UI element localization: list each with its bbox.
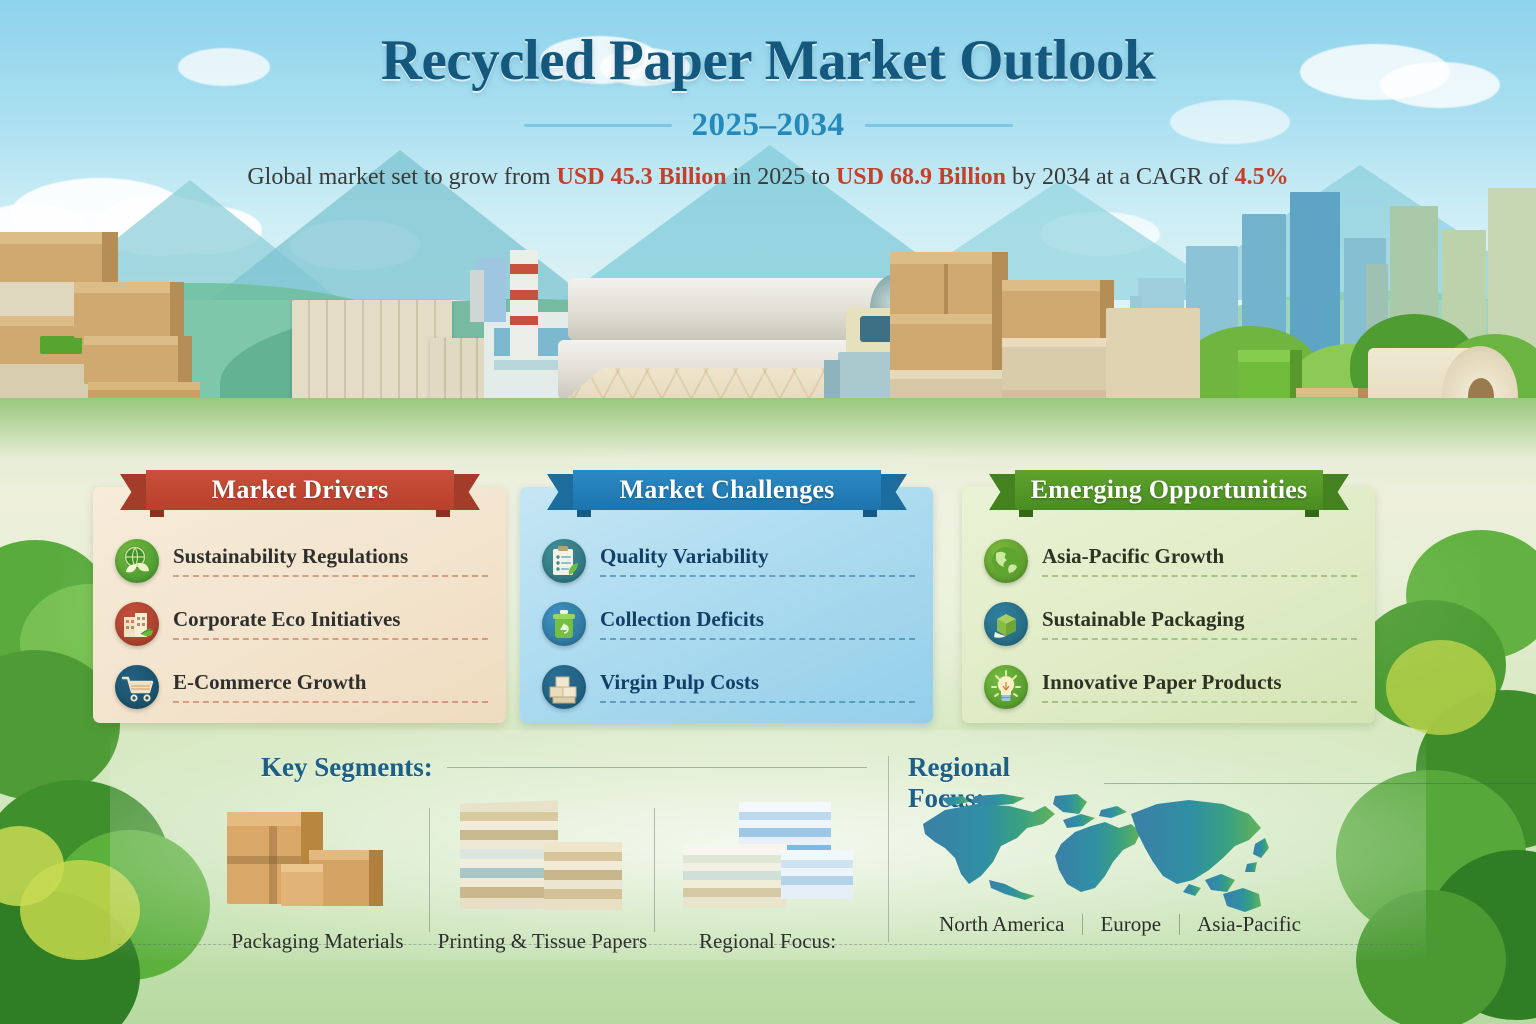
list-item-body: Innovative Paper Products [1042, 670, 1357, 703]
clipboard-leaf-icon [542, 539, 586, 583]
panel-emerging-opportunities: Asia-Pacific Growth Sustainable Packagin… [962, 487, 1375, 723]
key-segments-heading: Key Segments: [261, 752, 867, 783]
ribbon-foot-right [1305, 509, 1319, 517]
list-item-label: Virgin Pulp Costs [600, 670, 915, 701]
list-item[interactable]: Regional Focus: [655, 800, 880, 950]
list-item-rule [600, 638, 915, 640]
ribbon-emerging-opportunities: Emerging Opportunities [989, 470, 1349, 510]
drivers-list: Sustainability Regulations [115, 529, 488, 718]
paper-stacks-icon [452, 802, 642, 912]
list-item[interactable]: E-Commerce Growth [115, 655, 488, 718]
list-item-body: Collection Deficits [600, 607, 915, 640]
list-item-rule [1042, 575, 1357, 577]
subtitle-lead: Global market set to grow from [247, 164, 556, 190]
panel-market-challenges: Quality Variability Collection Deficits [520, 487, 933, 723]
list-item[interactable]: Quality Variability [542, 529, 915, 592]
list-item-body: Corporate Eco Initiatives [173, 607, 488, 640]
list-item-body: E-Commerce Growth [173, 670, 488, 703]
ribbon-tail-right [450, 474, 480, 510]
list-item-body: Quality Variability [600, 544, 915, 577]
list-item[interactable]: Collection Deficits [542, 592, 915, 655]
list-item-label: E-Commerce Growth [173, 670, 488, 701]
bottom-section-divider [888, 756, 889, 942]
ribbon-foot-left [1019, 509, 1033, 517]
list-item-label: Sustainability Regulations [173, 544, 488, 575]
subtitle: Global market set to grow from USD 45.3 … [0, 164, 1536, 191]
building-leaf-icon [115, 602, 159, 646]
subtitle-mid-2: by 2034 at a CAGR of [1006, 164, 1235, 190]
ribbon-title: Market Drivers [146, 470, 454, 510]
region-labels: North America Europe Asia-Pacific [905, 912, 1335, 937]
list-item-rule [600, 575, 915, 577]
panel-market-drivers: Sustainability Regulations [93, 487, 506, 723]
list-item[interactable]: Sustainability Regulations [115, 529, 488, 592]
list-item-rule [1042, 638, 1357, 640]
list-item-rule [173, 701, 488, 703]
infographic-canvas: Recycled Paper Market Outlook 2025–2034 … [0, 0, 1536, 1024]
page-title: Recycled Paper Market Outlook [0, 28, 1536, 93]
year-rule-right [865, 124, 1013, 127]
green-box-icon [984, 602, 1028, 646]
list-item-label: Regional Focus: [655, 929, 880, 954]
globe-americas-icon [984, 539, 1028, 583]
ribbon-title: Emerging Opportunities [1015, 470, 1323, 510]
list-item-label: Asia-Pacific Growth [1042, 544, 1357, 575]
key-segments-heading-rule [447, 767, 867, 768]
list-item[interactable]: Corporate Eco Initiatives [115, 592, 488, 655]
list-item-label: Collection Deficits [600, 607, 915, 638]
list-item[interactable]: Packaging Materials [205, 800, 430, 950]
ribbon-tail-right [1319, 474, 1349, 510]
list-item[interactable]: Printing & Tissue Papers [430, 800, 655, 950]
market-value-2025: USD 45.3 Billion [557, 164, 727, 190]
list-item-rule [173, 638, 488, 640]
regional-focus-heading-rule [1104, 783, 1536, 784]
ribbon-market-challenges: Market Challenges [547, 470, 907, 510]
shopping-cart-icon [115, 665, 159, 709]
region-label-europe[interactable]: Europe [1082, 912, 1179, 937]
ribbon-tail-right [877, 474, 907, 510]
list-item-label: Printing & Tissue Papers [430, 929, 655, 954]
year-rule-left [524, 124, 672, 127]
cardboard-boxes-icon [217, 806, 397, 910]
ribbon-market-drivers: Market Drivers [120, 470, 480, 510]
key-segments-heading-text: Key Segments: [261, 752, 433, 783]
ribbon-foot-right [863, 509, 877, 517]
recycle-bin-icon [542, 602, 586, 646]
lightbulb-icon [984, 665, 1028, 709]
list-item-label: Packaging Materials [205, 929, 430, 954]
list-item-label: Corporate Eco Initiatives [173, 607, 488, 638]
list-item[interactable]: Innovative Paper Products [984, 655, 1357, 718]
region-label-north-america[interactable]: North America [921, 912, 1082, 937]
world-map-icon [905, 788, 1335, 916]
list-item-body: Sustainability Regulations [173, 544, 488, 577]
list-item-label: Quality Variability [600, 544, 915, 575]
list-item-rule [173, 575, 488, 577]
paper-reams-icon [683, 802, 863, 912]
list-item-label: Innovative Paper Products [1042, 670, 1357, 701]
grass-band-upper [0, 398, 1536, 458]
ribbon-title: Market Challenges [573, 470, 881, 510]
list-item[interactable]: Sustainable Packaging [984, 592, 1357, 655]
list-item-rule [1042, 701, 1357, 703]
list-item-label: Sustainable Packaging [1042, 607, 1357, 638]
region-label-asia-pacific[interactable]: Asia-Pacific [1179, 912, 1319, 937]
market-value-2034: USD 68.9 Billion [836, 164, 1006, 190]
list-item-body: Sustainable Packaging [1042, 607, 1357, 640]
bottom-dashed-divider [118, 944, 1418, 945]
year-range: 2025–2034 [692, 107, 845, 144]
list-item[interactable]: Virgin Pulp Costs [542, 655, 915, 718]
list-item-body: Asia-Pacific Growth [1042, 544, 1357, 577]
globe-leaf-icon [115, 539, 159, 583]
opportunities-list: Asia-Pacific Growth Sustainable Packagin… [984, 529, 1357, 718]
ribbon-foot-right [436, 509, 450, 517]
paper-bales-icon [542, 665, 586, 709]
cagr-value: 4.5% [1235, 164, 1289, 190]
challenges-list: Quality Variability Collection Deficits [542, 529, 915, 718]
key-segments-list: Packaging Materials [205, 800, 880, 950]
list-item[interactable]: Asia-Pacific Growth [984, 529, 1357, 592]
subtitle-mid-1: in 2025 to [727, 164, 836, 190]
list-item-rule [600, 701, 915, 703]
ribbon-foot-left [150, 509, 164, 517]
ribbon-foot-left [577, 509, 591, 517]
year-range-row: 2025–2034 [0, 107, 1536, 144]
list-item-body: Virgin Pulp Costs [600, 670, 915, 703]
